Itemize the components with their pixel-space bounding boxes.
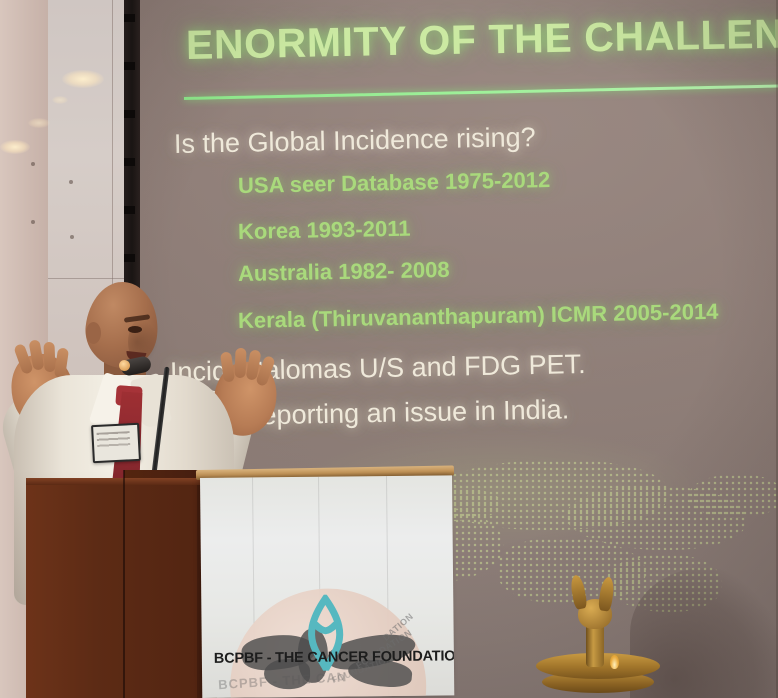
speaker-name-badge-text: [97, 431, 131, 451]
slide-line-4: Australia 1982- 2008: [238, 257, 450, 287]
slide-line-3: Korea 1993-2011: [238, 216, 411, 245]
wall-dark-notch: [124, 62, 135, 70]
wall-fixture-dot: [70, 235, 74, 239]
slide-line-2: USA seer Database 1975-2012: [238, 167, 551, 199]
slide-title-underline: [184, 85, 778, 100]
map-landmass: [688, 474, 778, 518]
lamp-flame-icon: [610, 655, 619, 669]
podium-top-edge: [26, 478, 217, 485]
wall-dark-notch: [124, 254, 135, 262]
ceiling-downlight-icon: [0, 140, 30, 154]
wall-dark-notch: [124, 110, 135, 118]
slide-line-5: Kerala (Thiruvananthapuram) ICMR 2005-20…: [238, 299, 719, 334]
speaker-finger: [234, 348, 246, 378]
podium-corner-edge: [123, 470, 125, 698]
banner-organization-name: BCPBF - THE CANCER FOUNDATION: [214, 648, 446, 666]
speaker-finger: [43, 342, 55, 372]
ceiling-downlight-icon: [52, 96, 68, 104]
ceiling-downlight-icon: [28, 118, 50, 128]
wall-fixture-dot: [31, 220, 35, 224]
podium-front-panel: [26, 482, 197, 698]
podium-banner: FOUNDATION DATION FOUNDATION BCPBF - THE…: [200, 475, 454, 698]
slide-line-1: Is the Global Incidence rising?: [174, 122, 536, 160]
speaker-ear: [86, 322, 101, 344]
ceiling-downlight-icon: [62, 70, 104, 88]
wall-dark-notch: [124, 14, 135, 22]
slide-title: ENORMITY OF THE CHALLENGE: [186, 9, 778, 69]
wall-fixture-dot: [31, 162, 35, 166]
presentation-photo-scene: ENORMITY OF THE CHALLENGE Is the Global …: [0, 0, 778, 698]
wall-dark-notch: [124, 158, 135, 166]
wall-dark-notch: [124, 206, 135, 214]
microphone-windscreen-highlight: [119, 360, 130, 371]
wall-fixture-dot: [69, 180, 73, 184]
speaker-eye: [128, 326, 142, 333]
